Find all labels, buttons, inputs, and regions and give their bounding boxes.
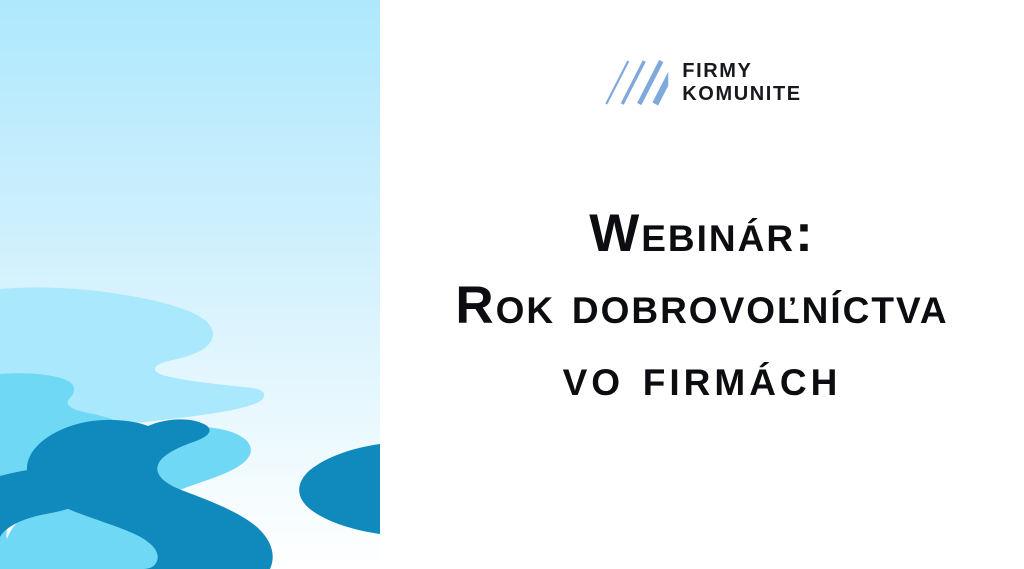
logo-line-firmy: FIRMY [682, 61, 801, 81]
decorative-artwork-panel [0, 0, 380, 569]
webinar-banner: FIRMY KOMUNITE Webinár: Rok dobrovoľníct… [0, 0, 1024, 569]
logo-wordmark: FIRMY KOMUNITE [682, 61, 801, 104]
title-block: Webinár: Rok dobrovoľníctva vo firmách [380, 198, 1024, 414]
four-slashes-icon [602, 56, 668, 108]
logo-line-komunite: KOMUNITE [682, 84, 801, 104]
content-column: FIRMY KOMUNITE Webinár: Rok dobrovoľníct… [380, 0, 1024, 569]
abstract-water-waves-graphic [0, 0, 380, 569]
title-line-2: Rok dobrovoľníctva [380, 270, 1024, 342]
title-line-3: vo firmách [380, 342, 1024, 414]
title-line-1: Webinár: [380, 198, 1024, 270]
brand-logo: FIRMY KOMUNITE [602, 56, 801, 108]
